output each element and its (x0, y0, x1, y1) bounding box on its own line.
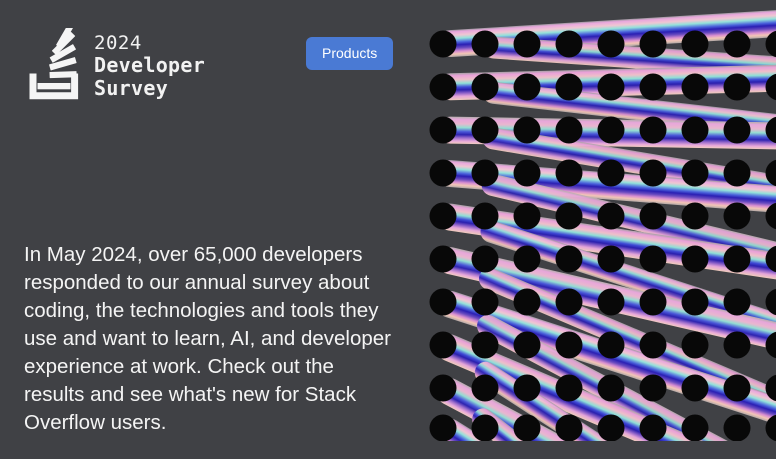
intro-paragraph: In May 2024, over 65,000 developers resp… (24, 241, 396, 437)
hero-graphic (428, 0, 776, 441)
brand-title-line-1: Developer (94, 54, 205, 76)
brand-year: 2024 (94, 33, 205, 54)
iridescent-rays-svg (428, 0, 776, 441)
brand-title-block: 2024 Developer Survey (94, 33, 205, 99)
page-root: 2024 Developer Survey Products In May 20… (0, 0, 776, 459)
brand-title-line-2: Survey (94, 77, 205, 99)
left-content-pane: 2024 Developer Survey Products In May 20… (0, 0, 428, 459)
products-button[interactable]: Products (306, 37, 393, 70)
stack-overflow-logo-icon (24, 28, 84, 103)
brand-lockup: 2024 Developer Survey (24, 28, 205, 103)
